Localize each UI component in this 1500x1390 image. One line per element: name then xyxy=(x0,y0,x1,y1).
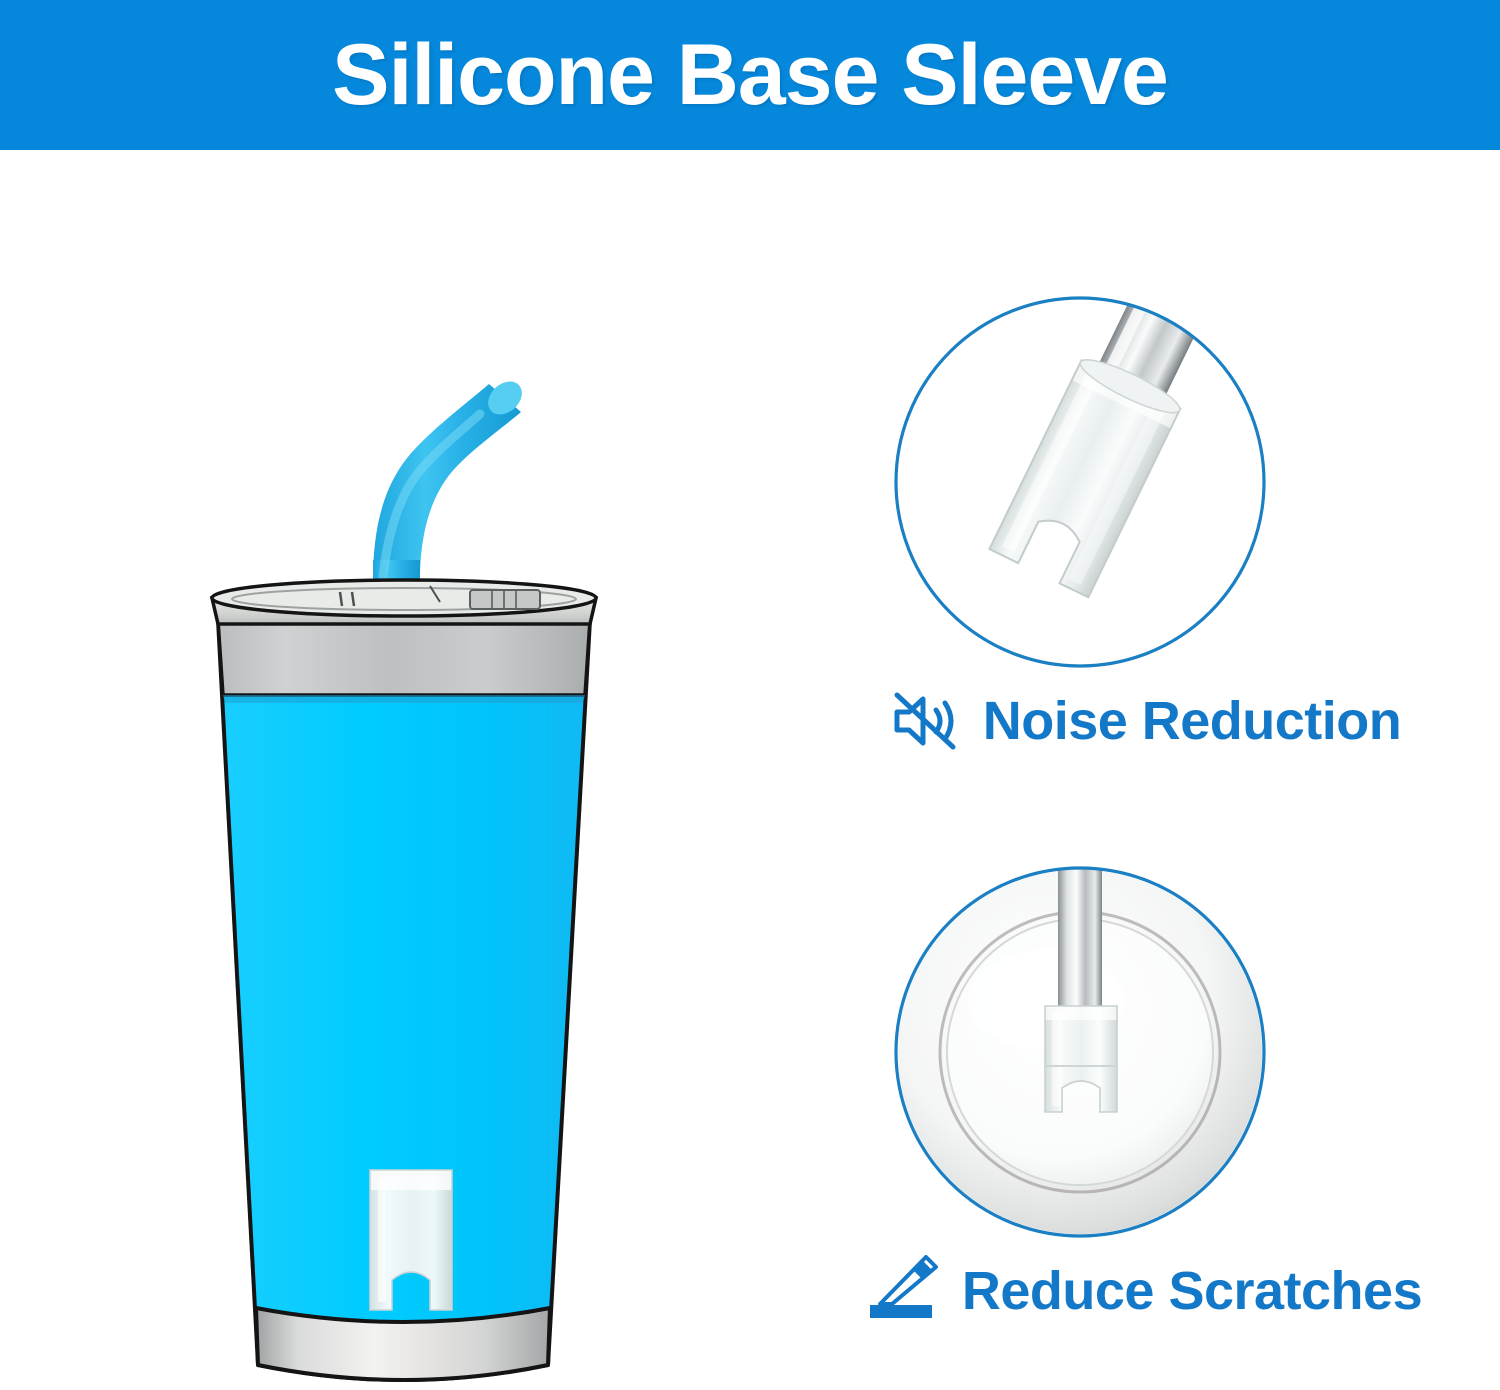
scratch-pen-icon xyxy=(868,1255,940,1327)
feature-reduce-scratches: Reduce Scratches xyxy=(790,860,1500,1337)
header-banner: Silicone Base Sleeve xyxy=(0,0,1500,150)
topdown-straw-resting-on-tumbler-base xyxy=(790,860,1500,1245)
feature-caption-scratch: Reduce Scratches xyxy=(790,1245,1500,1337)
surface-bar xyxy=(870,1305,932,1318)
page-title: Silicone Base Sleeve xyxy=(0,0,1500,150)
feature-label-noise: Noise Reduction xyxy=(983,694,1402,748)
closeup-silicone-sleeve-on-straw xyxy=(790,290,1500,675)
detail-circle-scratch xyxy=(790,860,1500,1245)
tumbler-lid xyxy=(212,580,596,624)
detail-circle-noise xyxy=(790,290,1500,675)
tumbler-illustration xyxy=(0,150,790,1390)
feature-caption-noise: Noise Reduction xyxy=(790,675,1500,767)
tumbler-inner-band xyxy=(218,620,590,695)
product-infographic: Silicone Base Sleeve xyxy=(0,0,1500,1390)
feature-noise-reduction: Noise Reduction xyxy=(790,290,1500,767)
tumbler-svg xyxy=(0,150,790,1390)
feature-panel: Noise Reduction xyxy=(790,150,1500,1390)
liquid-surface-line xyxy=(223,695,585,703)
mute-speaker-icon xyxy=(889,685,961,757)
feature-label-scratch: Reduce Scratches xyxy=(962,1264,1422,1318)
